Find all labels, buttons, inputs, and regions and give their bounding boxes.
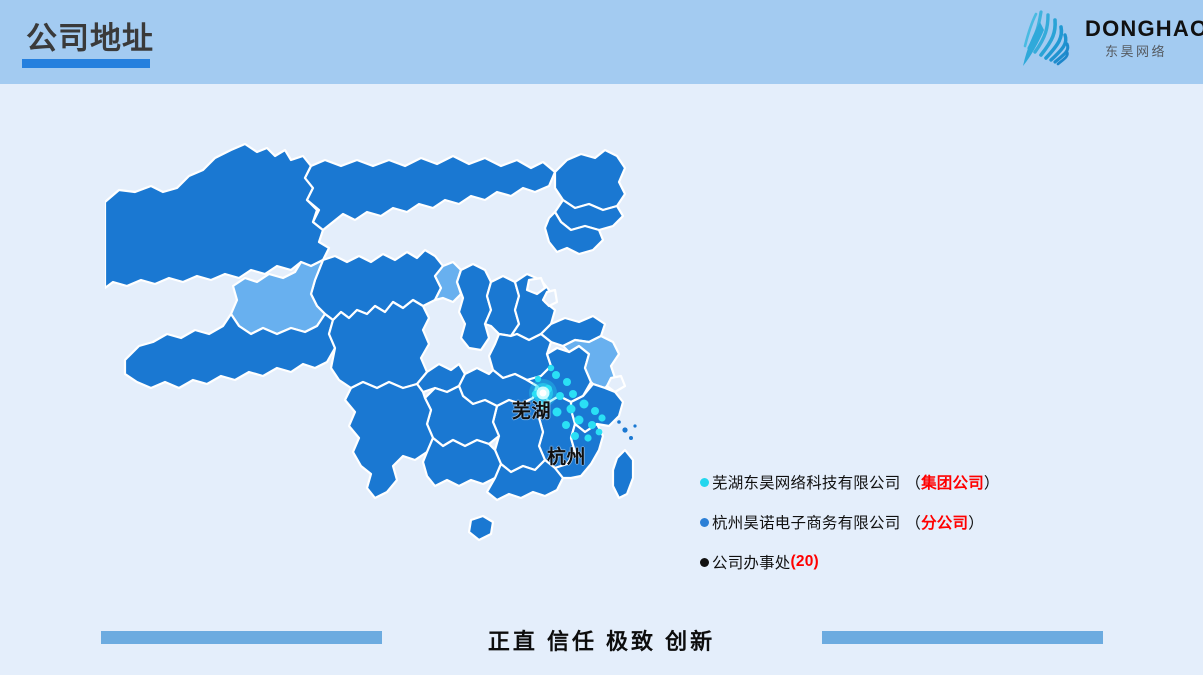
province-hainan <box>469 516 493 540</box>
legend-bullet-cyan <box>700 478 709 487</box>
company-logo: DONGHAO 东昊网络 <box>1011 6 1187 74</box>
province-yunnan <box>345 382 433 498</box>
legend-paren-open: （ <box>905 475 921 492</box>
donghao-feather-logo-icon <box>1015 8 1085 72</box>
logo-name: DONGHAO <box>1085 16 1187 42</box>
legend-item-branch-company: 杭州昊诺电子商务有限公司 （分公司） <box>700 502 1030 542</box>
province-xinjiang <box>105 144 329 288</box>
legend-bullet-black <box>700 558 709 567</box>
legend-item-offices: 公司办事处 (20) <box>700 542 1030 582</box>
legend-label-branch-company: 杭州昊诺电子商务有限公司 <box>712 511 900 533</box>
title-underline <box>22 59 150 68</box>
legend-tag-text: 分公司 <box>921 515 968 532</box>
legend-paren-open: （ <box>905 515 921 532</box>
map-label-wuhu: 芜湖 <box>512 396 551 423</box>
province-taiwan <box>613 450 633 498</box>
legend-paren-close: ） <box>968 515 984 532</box>
legend-tag-offices: (20) <box>791 553 819 571</box>
slide-header: 公司地址 <box>0 0 1203 84</box>
legend-label-offices: 公司办事处 <box>712 551 791 573</box>
footer-bar-right <box>822 631 1103 644</box>
province-guangxi <box>423 438 501 486</box>
address-legend: 芜湖东昊网络科技有限公司 （集团公司） 杭州昊诺电子商务有限公司 （分公司） 公… <box>700 462 1030 582</box>
page-title: 公司地址 <box>26 20 154 58</box>
china-map: 芜湖 杭州 <box>105 130 745 600</box>
legend-paren-close: ） <box>984 475 1000 492</box>
legend-item-group-company: 芜湖东昊网络科技有限公司 （集团公司） <box>700 462 1030 502</box>
legend-bullet-blue <box>700 518 709 527</box>
map-label-hangzhou: 杭州 <box>547 442 586 469</box>
legend-tag-branch-company: （分公司） <box>905 511 984 533</box>
legend-tag-group-company: （集团公司） <box>905 471 999 493</box>
legend-tag-text: (20) <box>791 553 819 570</box>
province-sichuan <box>329 300 429 388</box>
slide: 公司地址 <box>0 0 1203 675</box>
legend-tag-text: 集团公司 <box>921 475 984 492</box>
province-shanxi <box>485 276 519 336</box>
logo-text-block: DONGHAO 东昊网络 <box>1085 16 1187 61</box>
coastal-islands <box>617 420 636 440</box>
china-map-svg <box>105 130 745 600</box>
province-shaanxi <box>457 264 491 350</box>
legend-label-group-company: 芜湖东昊网络科技有限公司 <box>712 471 900 493</box>
logo-subtitle: 东昊网络 <box>1085 43 1187 61</box>
province-inner-mongolia <box>305 156 555 230</box>
